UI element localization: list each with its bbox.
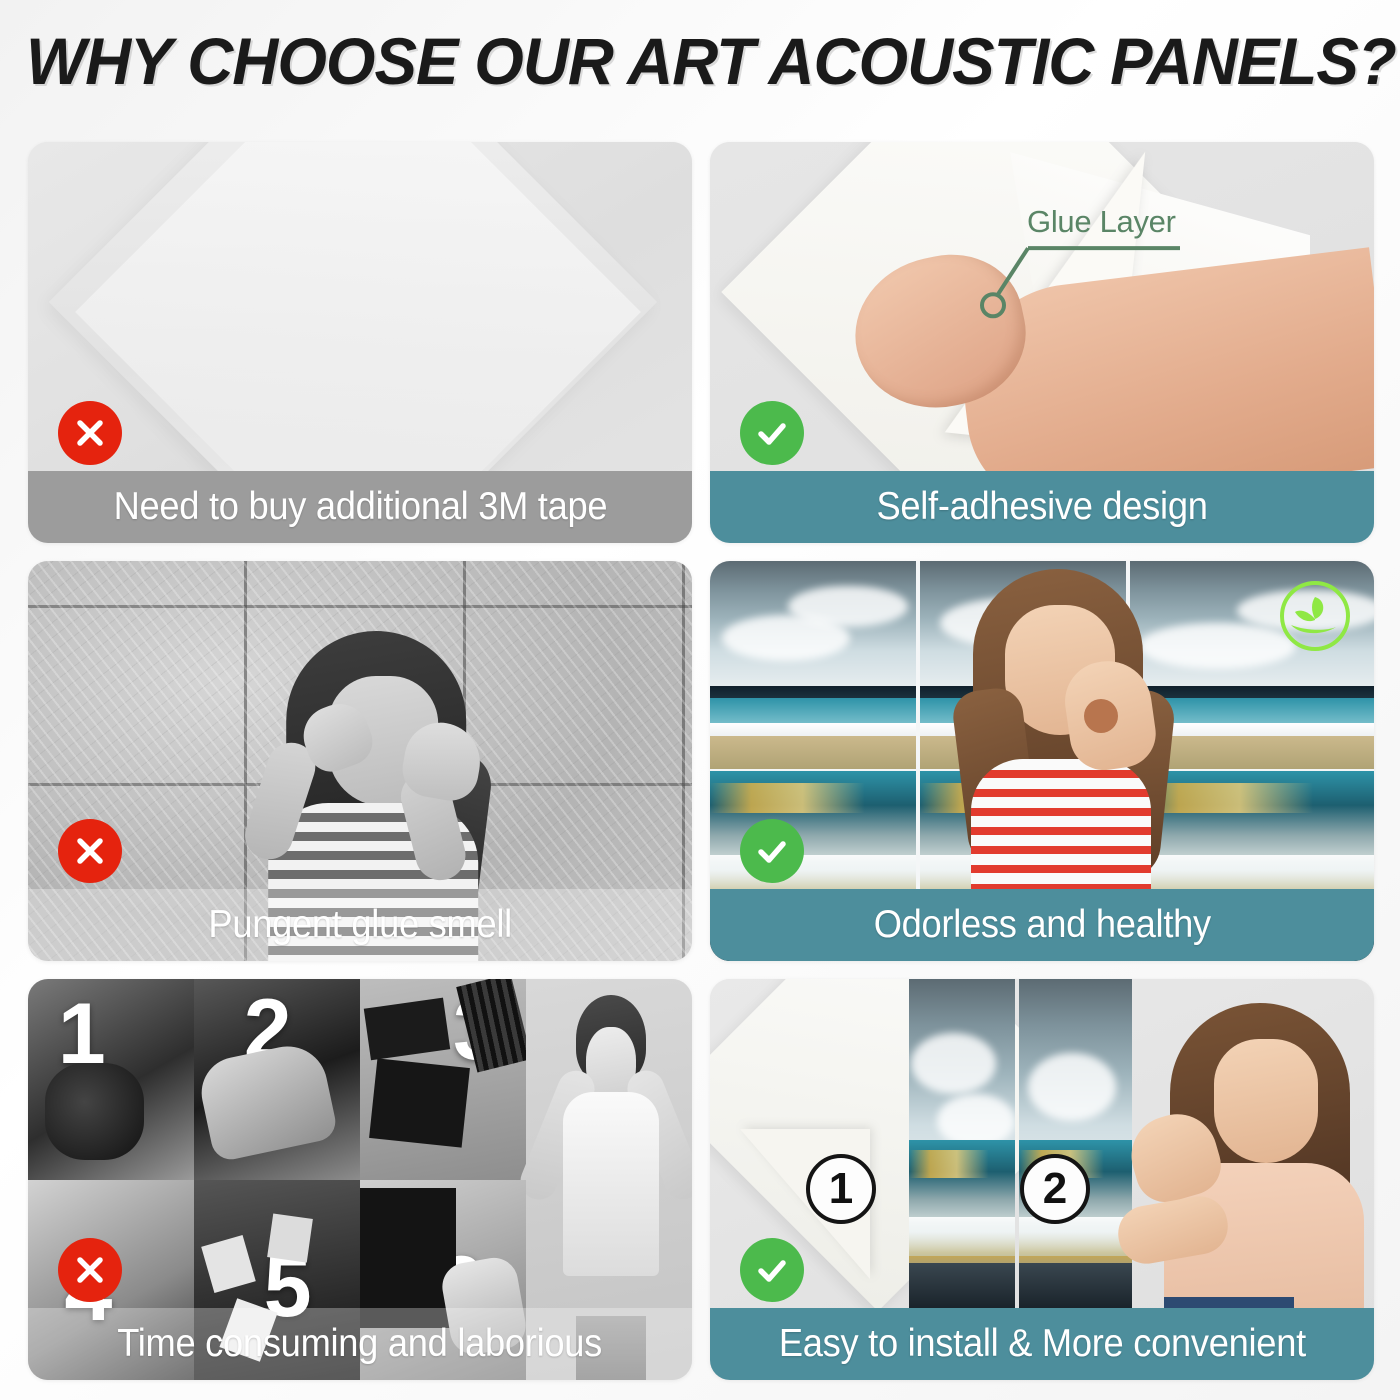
panel-caption: Pungent glue smell [28, 889, 692, 961]
art-tile [909, 1140, 1015, 1316]
panel-need-3m-tape: Need to buy additional 3M tape [28, 142, 692, 543]
check-badge [740, 1238, 804, 1302]
foam-tile [363, 998, 449, 1061]
glue-layer-label: Glue Layer [1027, 204, 1176, 240]
panel-caption-text: Easy to install & More convenient [778, 1322, 1305, 1366]
check-badge [740, 819, 804, 883]
panel-caption-text: Pungent glue smell [208, 903, 511, 947]
cross-badge [58, 1238, 122, 1302]
step-photo: 3 [360, 979, 526, 1179]
cross-badge [58, 819, 122, 883]
woman-thumbs-up-photo [1118, 1003, 1368, 1323]
step-photo: 1 [28, 979, 194, 1179]
header: WHY CHOOSE OUR ART ACOUSTIC PANELS? [0, 0, 1400, 122]
panel-odorless-and-healthy: Odorless and healthy [710, 561, 1374, 962]
step-badge-2: 2 [1020, 1154, 1090, 1224]
panel-self-adhesive-design: Glue Layer Self-adhesive design [710, 142, 1374, 543]
glue-can [45, 1063, 145, 1159]
step-photo: 2 [194, 979, 360, 1179]
panel-caption: Self-adhesive design [710, 471, 1374, 543]
cross-icon [70, 1250, 110, 1290]
girl-ok-gesture-photo [949, 569, 1179, 899]
panel-caption: Easy to install & More convenient [710, 1308, 1374, 1380]
art-tile [710, 561, 916, 769]
shirt [563, 1092, 659, 1276]
ok-gesture-hole [1084, 699, 1118, 733]
panel-easy-to-install: 1 2 Easy to install & More convenient [710, 979, 1374, 1380]
cross-badge [58, 401, 122, 465]
panel-caption-text: Self-adhesive design [876, 485, 1207, 529]
face [1214, 1039, 1318, 1163]
eco-leaf-icon [1278, 579, 1352, 653]
panel-caption: Need to buy additional 3M tape [28, 471, 692, 543]
panel-caption-text: Need to buy additional 3M tape [113, 485, 607, 529]
cross-icon [70, 413, 110, 453]
page-title: WHY CHOOSE OUR ART ACOUSTIC PANELS? [26, 23, 1396, 99]
tape-square [267, 1213, 313, 1262]
comparison-grid: Need to buy additional 3M tape Glue Laye… [28, 142, 1374, 1380]
panel-pungent-glue-smell: Pungent glue smell [28, 561, 692, 962]
check-icon [752, 831, 792, 871]
panel-time-consuming: 1 2 3 4 [28, 979, 692, 1380]
panel-caption-text: Odorless and healthy [873, 903, 1210, 947]
hand [195, 1039, 339, 1163]
striped-shirt [971, 759, 1151, 899]
panel-caption-text: Time consuming and laborious [118, 1322, 603, 1366]
panel-caption: Time consuming and laborious [28, 1308, 692, 1380]
step-badge-1: 1 [806, 1154, 876, 1224]
check-icon [752, 1250, 792, 1290]
foam-tile [369, 1059, 470, 1148]
panel-caption: Odorless and healthy [710, 889, 1374, 961]
check-icon [752, 413, 792, 453]
foam-tile [360, 1188, 456, 1328]
tape-square [201, 1235, 256, 1293]
cross-icon [70, 831, 110, 871]
check-badge [740, 401, 804, 465]
